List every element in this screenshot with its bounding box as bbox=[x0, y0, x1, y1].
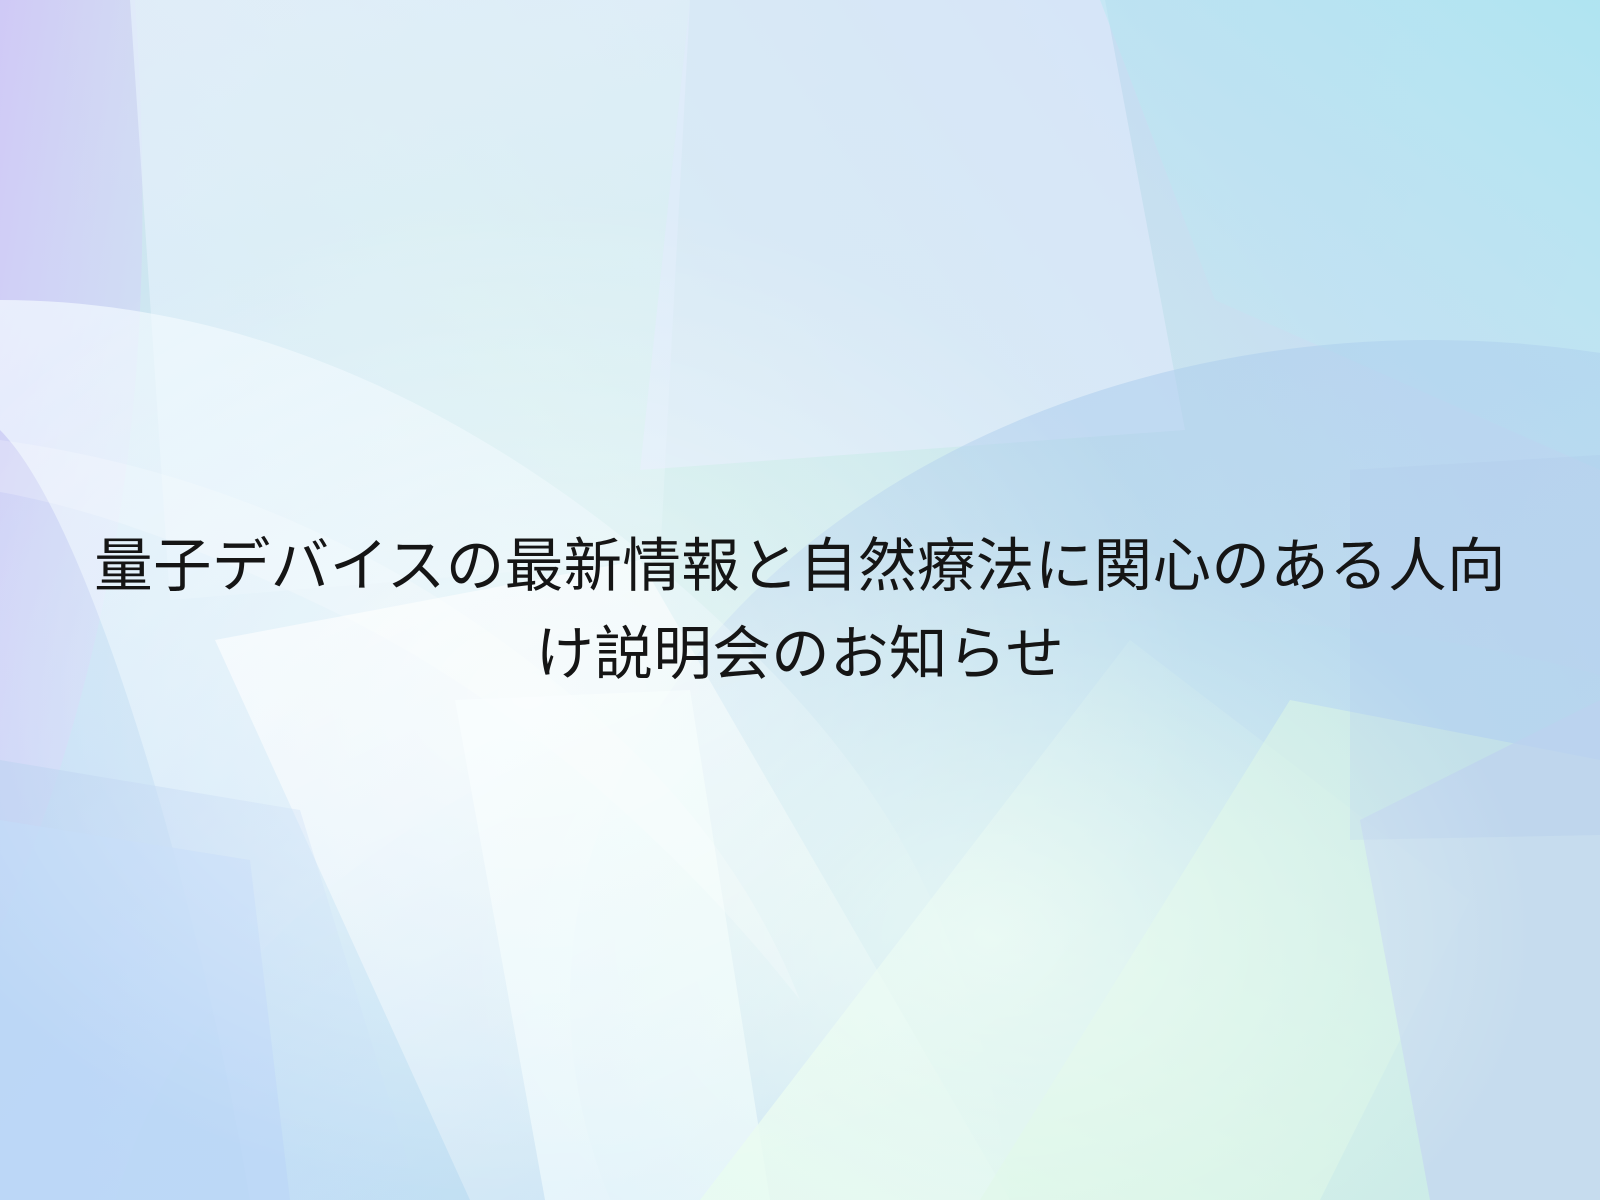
bg-glow-lower-center bbox=[0, 0, 1600, 1200]
title-slide: 量子デバイスの最新情報と自然療法に関心のある人向け説明会のお知らせ bbox=[0, 0, 1600, 1200]
background-artwork bbox=[0, 0, 1600, 1200]
